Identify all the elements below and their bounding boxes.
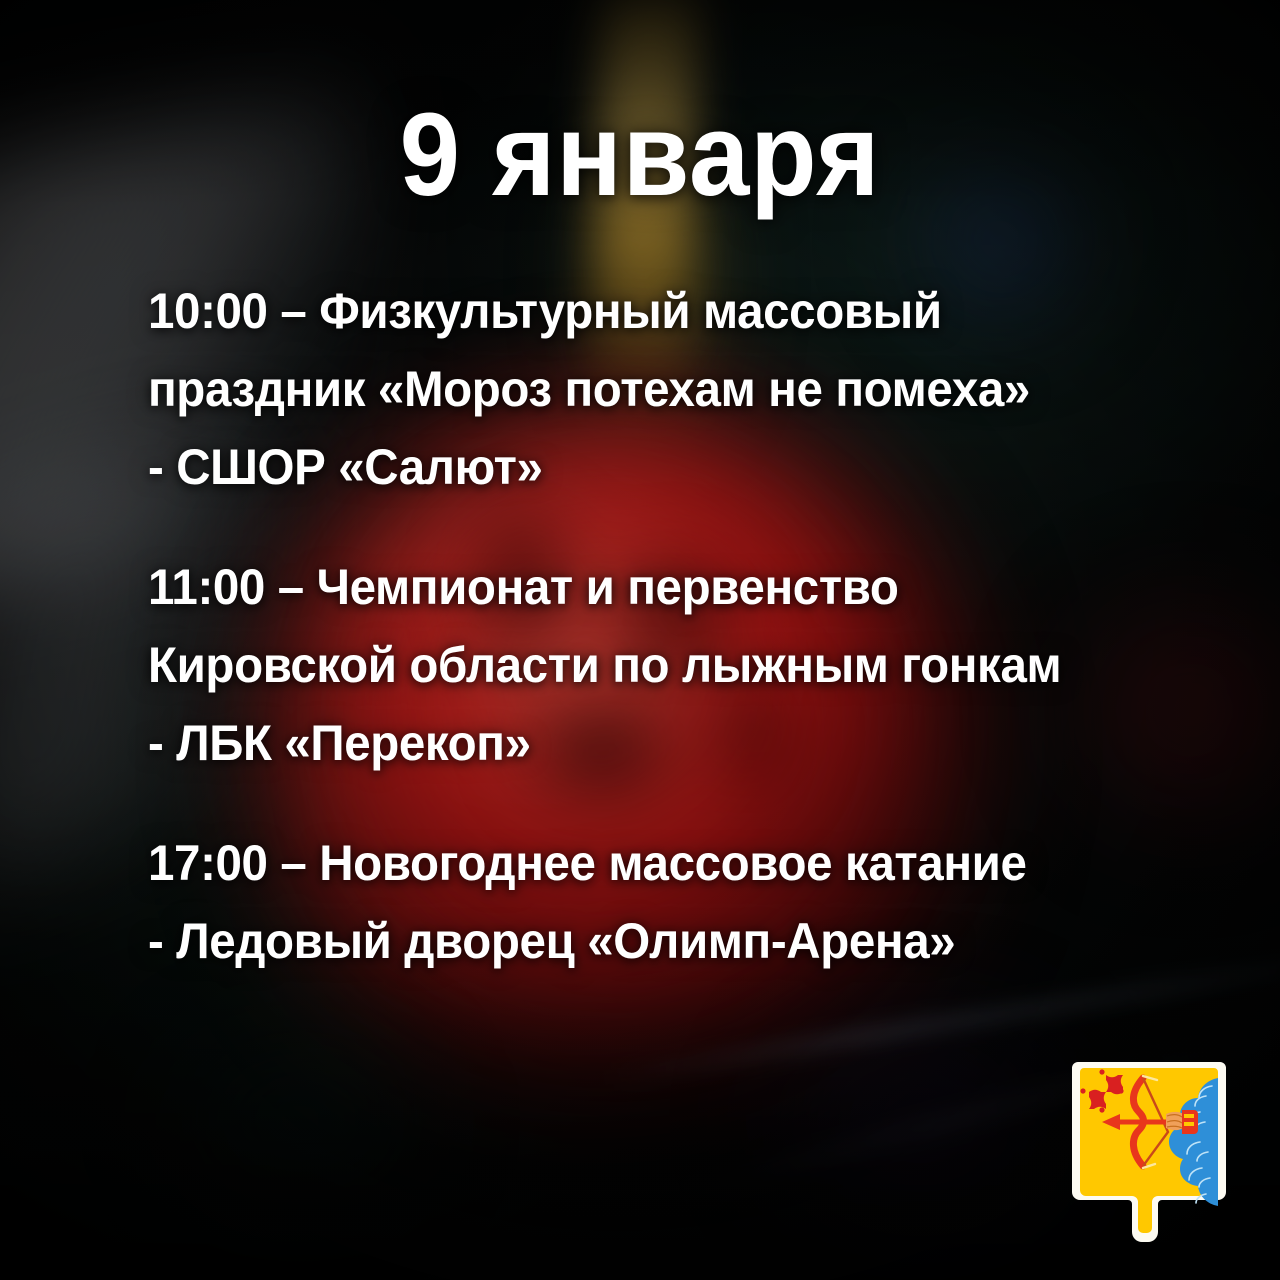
schedule-list: 10:00 – Физкультурный массовый праздник … (148, 272, 1258, 980)
event-line: 10:00 – Физкультурный массовый (148, 272, 1203, 350)
event-line: Кировской области по лыжным гонкам (148, 626, 1203, 704)
kirov-oblast-coat-of-arms-icon (1072, 1056, 1230, 1252)
event-line: праздник «Мороз потехам не помеха» (148, 350, 1203, 428)
poster-canvas: 9 января 10:00 – Физкультурный массовый … (0, 0, 1280, 1280)
schedule-event: 17:00 – Новогоднее массовое катание - Ле… (148, 824, 1258, 980)
schedule-event: 10:00 – Физкультурный массовый праздник … (148, 272, 1258, 506)
event-line: 11:00 – Чемпионат и первенство (148, 548, 1203, 626)
event-line: - СШОР «Салют» (148, 428, 1203, 506)
event-line: - ЛБК «Перекоп» (148, 704, 1203, 782)
schedule-event: 11:00 – Чемпионат и первенство Кировской… (148, 548, 1258, 782)
page-title: 9 января (51, 96, 1229, 214)
event-line: - Ледовый дворец «Олимп-Арена» (148, 902, 1203, 980)
event-line: 17:00 – Новогоднее массовое катание (148, 824, 1203, 902)
